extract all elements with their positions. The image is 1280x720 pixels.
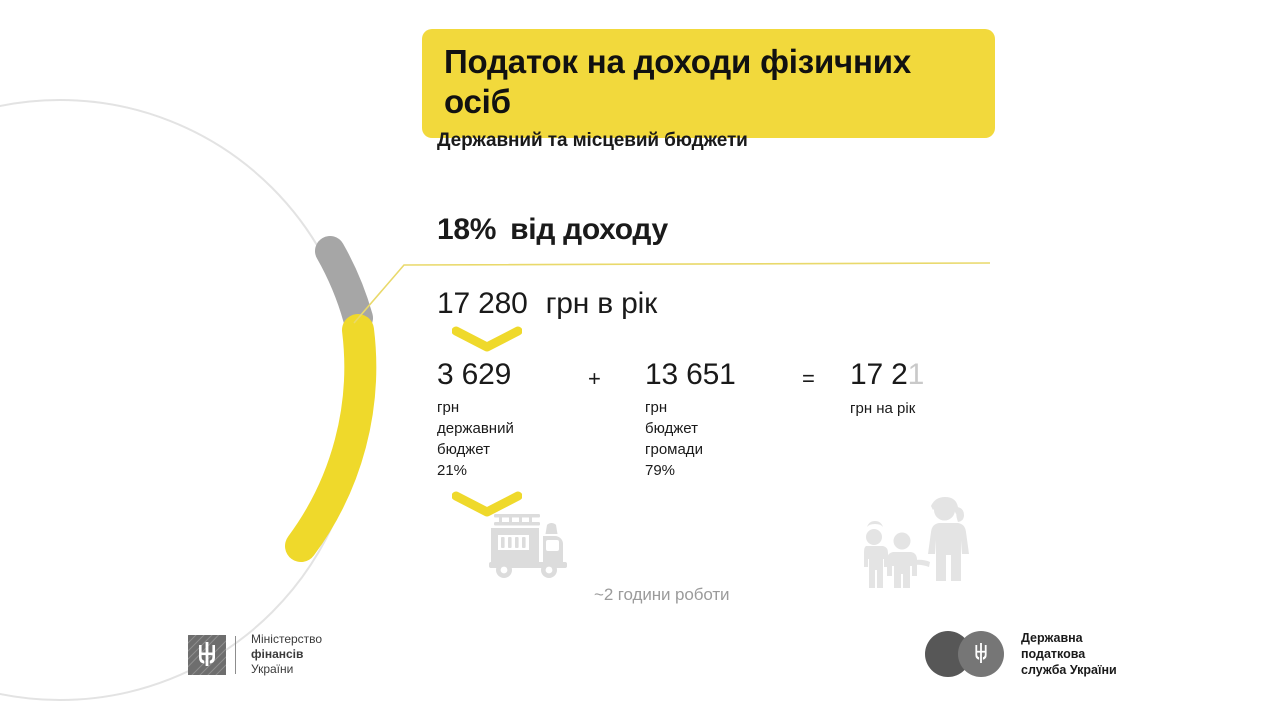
family-silhouette-icon xyxy=(861,497,973,589)
operator-plus: + xyxy=(588,366,601,392)
page-subtitle: Державний та місцевий бюджети xyxy=(437,130,748,152)
state-budget-note: грн державний бюджет 21% xyxy=(437,397,514,481)
fire-truck-icon xyxy=(487,508,569,580)
tax-rate-value: 18% xyxy=(437,213,496,247)
tax-service-mark-icon xyxy=(925,631,1011,677)
tax-line-3: служба України xyxy=(1021,662,1117,678)
breakdown-state-budget: 3 629 грн державний бюджет 21% xyxy=(437,358,514,481)
sum-amount-faded: 1 xyxy=(908,358,925,391)
chevron-down-icon xyxy=(452,326,522,352)
page-title: Податок на доходи фізичних осіб xyxy=(444,42,973,122)
local-budget-note: грн бюджет громади 79% xyxy=(645,397,736,481)
ministry-of-finance-text: Міністерство фінансів України xyxy=(245,632,322,677)
budget-breakdown: 3 629 грн державний бюджет 21% + 13 651 … xyxy=(437,358,977,488)
total-amount-row: 17 280 грн в рік xyxy=(437,287,657,321)
tax-line-2: податкова xyxy=(1021,646,1117,662)
trident-emblem-icon xyxy=(188,635,226,675)
breakdown-local-budget: 13 651 грн бюджет громади 79% xyxy=(645,358,736,481)
ring-segment-local xyxy=(301,330,360,546)
sum-amount-visible: 17 2 xyxy=(850,358,908,391)
tax-service-logo: Державна податкова служба України xyxy=(925,630,1117,678)
tax-service-text: Державна податкова служба України xyxy=(1021,630,1117,678)
breakdown-sum: 17 21 грн на рік xyxy=(850,358,924,419)
total-amount-value: 17 280 xyxy=(437,287,528,321)
infographic-slide: Податок на доходи фізичних осіб Державни… xyxy=(0,0,1280,720)
ring-segment-state xyxy=(330,251,358,318)
ring-track xyxy=(0,100,360,700)
ministry-of-finance-logo: Міністерство фінансів України xyxy=(188,632,322,677)
minfin-line-3: України xyxy=(251,662,322,677)
tax-line-1: Державна xyxy=(1021,630,1117,646)
total-amount-unit: грн в рік xyxy=(546,287,657,321)
local-budget-amount: 13 651 xyxy=(645,358,736,392)
work-hours-note: ~2 години роботи xyxy=(594,585,729,605)
sum-amount: 17 21 xyxy=(850,358,924,392)
logo-divider xyxy=(235,636,236,674)
operator-equals: = xyxy=(802,366,815,392)
tax-rate-row: 18% від доходу xyxy=(437,213,668,247)
sum-note: грн на рік xyxy=(850,398,924,419)
minfin-line-2: фінансів xyxy=(251,647,322,662)
title-banner: Податок на доходи фізичних осіб xyxy=(422,29,995,138)
tax-rate-label: від доходу xyxy=(510,213,668,247)
state-budget-amount: 3 629 xyxy=(437,358,514,392)
minfin-line-1: Міністерство xyxy=(251,632,322,647)
